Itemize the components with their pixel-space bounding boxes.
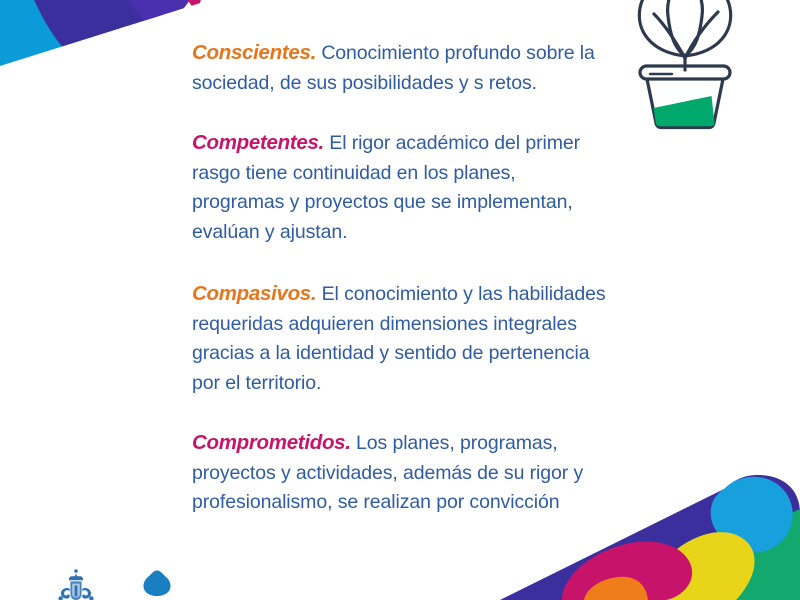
trait-item: Comprometidos. Los planes, programas, pr…: [192, 428, 612, 518]
plant-in-pot-icon: [626, 0, 744, 130]
slide-canvas: Conscientes. Conocimiento profundo sobre…: [0, 0, 800, 600]
trait-term: Comprometidos.: [192, 431, 351, 454]
trait-item: Competentes. El rigor académico del prim…: [192, 128, 612, 247]
top-left-corner-decoration: [0, 0, 210, 70]
trait-term: Conscientes.: [192, 41, 316, 64]
trait-item: Conscientes. Conocimiento profundo sobre…: [192, 38, 612, 98]
trait-term: Compasivos.: [192, 282, 316, 305]
blue-droplet-icon: [142, 569, 172, 597]
traits-list: Conscientes. Conocimiento profundo sobre…: [192, 38, 612, 518]
trait-item: Compasivos. El conocimiento y las habili…: [192, 279, 612, 398]
university-crest-icon: [52, 567, 100, 600]
trait-term: Competentes.: [192, 131, 324, 154]
